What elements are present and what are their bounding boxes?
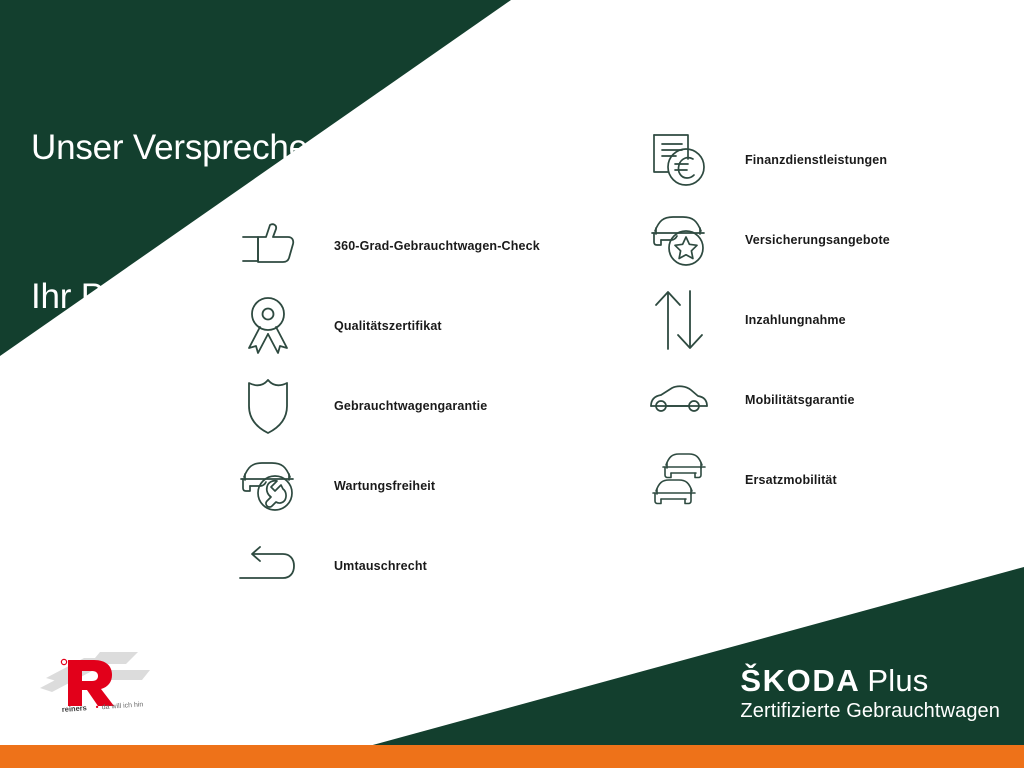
benefit-item-financial-services: Finanzdienstleistungen: [648, 120, 890, 200]
car-side-icon: [648, 369, 710, 431]
up-down-arrows-icon: [648, 289, 710, 351]
document-euro-icon: [648, 129, 710, 191]
benefit-label: Umtauschrecht: [334, 559, 427, 573]
dealer-logo-registered-dot: [61, 659, 66, 664]
benefit-item-maintenance-free: Wartungsfreiheit: [237, 446, 540, 526]
benefit-label: Mobilitätsgarantie: [745, 393, 855, 407]
thumbs-up-icon: [237, 215, 299, 277]
benefit-item-360-check: 360-Grad-Gebrauchtwagen-Check: [237, 206, 540, 286]
benefit-item-trade-in: Inzahlungnahme: [648, 280, 890, 360]
dealer-logo-tagline: da will ich hin: [102, 701, 144, 711]
skoda-plus-word: Plus: [867, 663, 928, 698]
orange-accent-bar: [0, 745, 1024, 768]
benefits-column-left: 360-Grad-Gebrauchtwagen-Check Qualitätsz…: [237, 206, 540, 606]
skoda-logo-tagline: Zertifizierte Gebrauchtwagen: [740, 699, 1000, 724]
benefit-item-replacement-mobility: Ersatzmobilität: [648, 440, 890, 520]
benefits-column-right: Finanzdienstleistungen Versicherungsange…: [648, 120, 890, 520]
skoda-wordmark: ŠKODA: [740, 663, 860, 698]
return-arrow-icon: [237, 535, 299, 597]
benefit-label: Wartungsfreiheit: [334, 479, 435, 493]
car-star-icon: [648, 209, 710, 271]
benefit-item-warranty: Gebrauchtwagengarantie: [237, 366, 540, 446]
promo-slide: Unser Versprechen. Ihr Plus. 360-Grad-Ge…: [0, 0, 1024, 768]
award-rosette-icon: [237, 295, 299, 357]
two-cars-icon: [648, 449, 710, 511]
dealer-logo-name: reiners: [62, 703, 88, 714]
benefit-item-mobility-guarantee: Mobilitätsgarantie: [648, 360, 890, 440]
car-wrench-icon: [237, 455, 299, 517]
dealer-logo: reiners • da will ich hin: [38, 648, 188, 716]
dealer-logo-r-mark: [68, 660, 114, 706]
dealer-logo-artwork: reiners • da will ich hin: [38, 648, 188, 716]
benefit-label: Finanzdienstleistungen: [745, 153, 887, 167]
benefit-label: Gebrauchtwagengarantie: [334, 399, 487, 413]
shield-icon: [237, 375, 299, 437]
benefit-item-return-right: Umtauschrecht: [237, 526, 540, 606]
benefit-label: Ersatzmobilität: [745, 473, 837, 487]
benefit-label: Qualitätszertifikat: [334, 319, 442, 333]
benefit-item-quality-certificate: Qualitätszertifikat: [237, 286, 540, 366]
benefit-label: 360-Grad-Gebrauchtwagen-Check: [334, 239, 540, 253]
benefit-label: Inzahlungnahme: [745, 313, 846, 327]
benefit-label: Versicherungsangebote: [745, 233, 890, 247]
benefit-item-insurance: Versicherungsangebote: [648, 200, 890, 280]
skoda-plus-logo: ŠKODAPlus Zertifizierte Gebrauchtwagen: [740, 665, 1000, 724]
headline-line-1: Unser Versprechen.: [31, 123, 337, 173]
skoda-logo-primary: ŠKODAPlus: [740, 665, 1000, 698]
